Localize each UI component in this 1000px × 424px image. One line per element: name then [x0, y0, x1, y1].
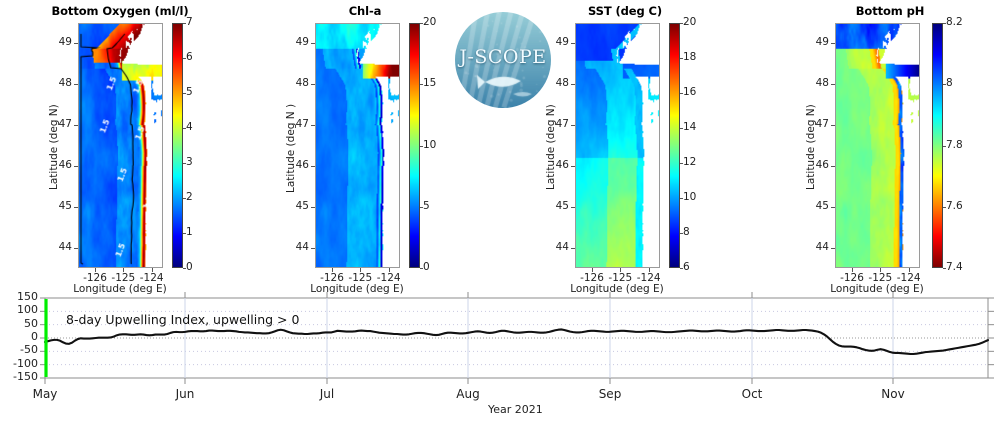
colorbar-tick-label: 10: [423, 139, 436, 151]
lat-tick-mark: [831, 84, 835, 85]
lat-tick-label: 46: [545, 159, 569, 171]
lat-tick-mark: [311, 248, 315, 249]
j-scope-logo-text: J-SCOPE: [455, 46, 551, 68]
colorbar-tick-label: 6: [186, 51, 193, 63]
panel-title-ph: Bottom pH: [820, 4, 960, 18]
colorbar-tick-label: 8: [683, 226, 690, 238]
colorbar-tick-mark: [183, 233, 186, 234]
colorbar-tick-mark: [943, 146, 946, 147]
colorbar-tick-mark: [680, 163, 683, 164]
colorbar-tick-mark: [420, 23, 423, 24]
lon-tick-label: -124: [134, 272, 170, 284]
lon-tick-mark: [152, 268, 153, 272]
lat-tick-label: 45: [48, 200, 72, 212]
panel-title-sst: SST (deg C): [555, 4, 695, 18]
panel-title-oxygen: Bottom Oxygen (ml/l): [30, 4, 210, 18]
lat-tick-label: 44: [285, 241, 309, 253]
timeseries-x-tick-label: May: [15, 387, 75, 401]
lat-tick-label: 45: [545, 200, 569, 212]
lat-tick-mark: [74, 43, 78, 44]
timeseries-y-tick-label: -50: [0, 343, 38, 356]
colorbar-tick-mark: [943, 84, 946, 85]
colorbar-tick-mark: [943, 268, 946, 269]
colorbar-tick-mark: [183, 58, 186, 59]
lat-tick-mark: [571, 84, 575, 85]
lon-tick-mark: [123, 268, 124, 272]
panel-title-chla: Chl-a: [305, 4, 425, 18]
colorbar-tick-mark: [943, 207, 946, 208]
lon-tick-label: -124: [891, 272, 927, 284]
timeseries-y-tick-label: 50: [0, 317, 38, 330]
timeseries-y-tick-label: -150: [0, 370, 38, 383]
colorbar-tick-mark: [680, 128, 683, 129]
timeseries-x-tick-label: Jul: [297, 387, 357, 401]
colorbar-tick-label: 3: [186, 156, 193, 168]
colorbar-tick-mark: [943, 23, 946, 24]
timeseries-annotation: 8-day Upwelling Index, upwelling > 0: [66, 312, 299, 327]
map-bottom-oxygen: [78, 23, 163, 268]
colorbar-tick-label: 7.4: [946, 261, 963, 273]
map-chl-a: [315, 23, 400, 268]
lat-tick-label: 47: [48, 118, 72, 130]
lat-tick-mark: [571, 125, 575, 126]
lat-tick-mark: [74, 207, 78, 208]
timeseries-y-tick-label: 0: [0, 330, 38, 343]
colorbar-tick-label: 2: [186, 191, 193, 203]
lat-tick-label: 44: [48, 241, 72, 253]
colorbar-tick-label: 18: [683, 51, 696, 63]
lat-tick-label: 44: [545, 241, 569, 253]
lat-tick-label: 49: [48, 36, 72, 48]
lat-tick-label: 45: [805, 200, 829, 212]
colorbar-tick-mark: [680, 233, 683, 234]
map-bottom-ph: [835, 23, 920, 268]
lat-tick-label: 49: [285, 36, 309, 48]
lat-tick-mark: [311, 166, 315, 167]
colorbar-tick-mark: [680, 198, 683, 199]
colorbar-tick-mark: [183, 93, 186, 94]
timeseries-y-tick-label: -100: [0, 357, 38, 370]
colorbar-tick-label: 20: [423, 16, 436, 28]
lat-tick-mark: [74, 84, 78, 85]
colorbar-tick-label: 12: [683, 156, 696, 168]
lon-tick-mark: [909, 268, 910, 272]
lat-tick-label: 46: [48, 159, 72, 171]
colorbar-tick-label: 7.8: [946, 139, 963, 151]
colorbar-tick-mark: [680, 268, 683, 269]
colorbar-tick-mark: [420, 207, 423, 208]
colorbar-tick-mark: [680, 23, 683, 24]
colorbar-tick-label: 14: [683, 121, 696, 133]
timeseries-x-tick-label: Sep: [580, 387, 640, 401]
lon-tick-mark: [852, 268, 853, 272]
timeseries-x-tick-label: Oct: [722, 387, 782, 401]
map-sst: [575, 23, 660, 268]
lon-tick-mark: [332, 268, 333, 272]
lon-tick-mark: [649, 268, 650, 272]
lat-tick-mark: [831, 248, 835, 249]
lat-tick-mark: [311, 43, 315, 44]
colorbar-tick-label: 8: [946, 77, 953, 89]
lat-tick-mark: [831, 166, 835, 167]
lon-tick-label: -124: [371, 272, 407, 284]
colorbar-tick-mark: [183, 268, 186, 269]
colorbar-tick-label: 5: [423, 200, 430, 212]
timeseries-xlabel: Year 2021: [488, 403, 543, 416]
lat-tick-mark: [311, 207, 315, 208]
lat-tick-mark: [571, 43, 575, 44]
lat-tick-label: 47: [805, 118, 829, 130]
lat-tick-label: 45: [285, 200, 309, 212]
colorbar-tick-mark: [183, 163, 186, 164]
lon-tick-mark: [620, 268, 621, 272]
colorbar-oxygen: [172, 23, 183, 268]
timeseries-y-tick-label: 100: [0, 303, 38, 316]
colorbar-tick-label: 20: [683, 16, 696, 28]
timeseries-y-tick-label: 150: [0, 290, 38, 303]
lat-tick-mark: [831, 43, 835, 44]
colorbar-tick-label: 5: [186, 86, 193, 98]
j-scope-logo: J-SCOPE: [455, 12, 551, 108]
lon-tick-mark: [880, 268, 881, 272]
timeseries-x-tick-label: Aug: [438, 387, 498, 401]
lat-tick-mark: [74, 248, 78, 249]
colorbar-chla: [409, 23, 420, 268]
colorbar-sst: [669, 23, 680, 268]
lon-tick-mark: [389, 268, 390, 272]
lon-tick-mark: [360, 268, 361, 272]
lat-tick-mark: [571, 248, 575, 249]
lat-tick-label: 48: [48, 77, 72, 89]
colorbar-tick-mark: [420, 268, 423, 269]
timeseries-x-tick-label: Jun: [155, 387, 215, 401]
colorbar-ph: [932, 23, 943, 268]
timeseries-x-tick-label: Nov: [863, 387, 923, 401]
lat-tick-label: 49: [805, 36, 829, 48]
lat-tick-mark: [831, 207, 835, 208]
lat-tick-label: 48: [285, 77, 309, 89]
colorbar-tick-label: 7: [186, 16, 193, 28]
colorbar-tick-label: 7.6: [946, 200, 963, 212]
lon-tick-mark: [95, 268, 96, 272]
lat-tick-label: 48: [545, 77, 569, 89]
colorbar-tick-mark: [183, 198, 186, 199]
lat-tick-mark: [571, 166, 575, 167]
lat-tick-mark: [311, 84, 315, 85]
lat-tick-label: 46: [285, 159, 309, 171]
lat-tick-mark: [74, 166, 78, 167]
lat-tick-label: 44: [805, 241, 829, 253]
lat-tick-mark: [831, 125, 835, 126]
upwelling-index-timeseries: 8-day Upwelling Index, upwelling > 0 Yea…: [0, 290, 1000, 424]
colorbar-tick-label: 0: [423, 261, 430, 273]
lat-tick-label: 48: [805, 77, 829, 89]
colorbar-tick-label: 6: [683, 261, 690, 273]
lat-tick-mark: [311, 125, 315, 126]
colorbar-tick-label: 16: [683, 86, 696, 98]
lon-tick-mark: [592, 268, 593, 272]
colorbar-tick-label: 4: [186, 121, 193, 133]
colorbar-tick-label: 1: [186, 226, 193, 238]
colorbar-tick-mark: [680, 58, 683, 59]
colorbar-tick-label: 10: [683, 191, 696, 203]
lat-tick-mark: [74, 125, 78, 126]
lat-tick-label: 47: [285, 118, 309, 130]
colorbar-tick-mark: [420, 84, 423, 85]
colorbar-tick-label: 0: [186, 261, 193, 273]
lon-tick-label: -124: [631, 272, 667, 284]
colorbar-tick-mark: [420, 146, 423, 147]
lat-tick-label: 46: [805, 159, 829, 171]
colorbar-tick-label: 8.2: [946, 16, 963, 28]
colorbar-tick-mark: [183, 128, 186, 129]
lat-tick-label: 47: [545, 118, 569, 130]
colorbar-tick-mark: [680, 93, 683, 94]
lat-tick-mark: [571, 207, 575, 208]
colorbar-tick-label: 15: [423, 77, 436, 89]
colorbar-tick-mark: [183, 23, 186, 24]
